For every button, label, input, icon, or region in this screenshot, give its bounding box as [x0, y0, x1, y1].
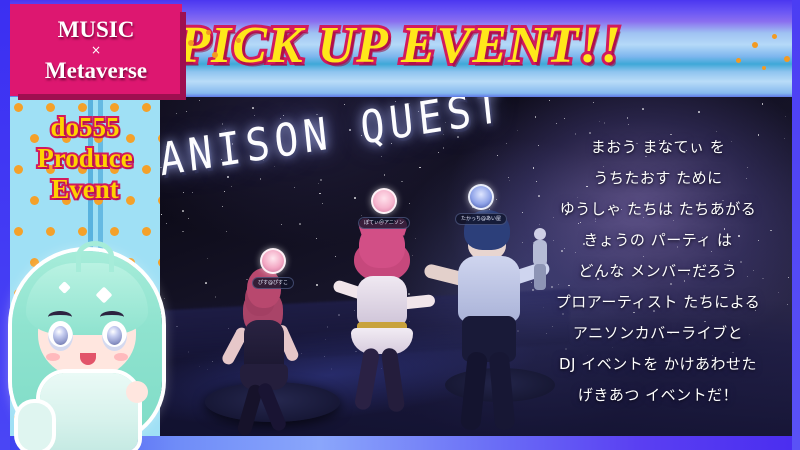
frame-right-edge — [792, 0, 800, 450]
star — [762, 103, 764, 105]
avatar-icon-pink — [260, 248, 286, 274]
banner-dot — [762, 66, 766, 70]
star — [785, 116, 786, 117]
star — [186, 111, 187, 112]
event-description: まおう まなてぃ をうちたおす ためにゆうしゃ たちは たちあがるきょうの パー… — [524, 132, 792, 411]
mascot-ahoge — [76, 241, 114, 272]
star — [322, 203, 323, 204]
star — [299, 223, 301, 225]
mascot-cheek-right — [114, 353, 128, 361]
star — [698, 111, 700, 113]
description-line: まおう まなてぃ を — [524, 132, 792, 163]
description-line: げきあつ イベントだ！ — [524, 380, 792, 411]
star — [188, 218, 189, 219]
avatar-icon-pink2 — [371, 188, 397, 214]
mascot-hand — [126, 381, 148, 403]
description-line: プロアーティスト たちによる — [524, 287, 792, 318]
star — [252, 107, 254, 109]
description-line: どんな メンバーだろう — [524, 256, 792, 287]
star — [508, 177, 509, 178]
star — [316, 238, 317, 239]
star — [226, 231, 227, 232]
star — [593, 102, 594, 103]
nameplate-label: ぴす@ぴすこ — [252, 277, 294, 289]
badge-line-music: MUSIC — [58, 17, 135, 42]
polka-dot — [142, 227, 151, 236]
star — [281, 224, 282, 225]
badge-line-cross: × — [91, 42, 101, 58]
produce-event-label: do555 Produce Event — [10, 112, 160, 205]
banner-dot — [212, 52, 218, 58]
event-banner-image: ANISON QUEST ぴす@ぴすこ ぽてぃ＠アニソン たかっち@あい屋 ま — [0, 0, 800, 450]
star — [316, 284, 318, 286]
mascot-hoodie — [40, 373, 138, 450]
polka-dot — [110, 103, 119, 112]
banner-dot — [236, 38, 241, 43]
polka-dot — [46, 227, 55, 236]
star — [564, 118, 565, 119]
avatar-center-idol — [335, 222, 435, 432]
polka-dot — [46, 103, 55, 112]
description-line: アニソンカバーライブと — [524, 318, 792, 349]
banner-dot — [736, 58, 741, 63]
star — [166, 223, 167, 224]
star — [199, 100, 200, 101]
star — [215, 296, 217, 298]
banner-dot — [206, 30, 211, 35]
description-line: うちたおす ために — [524, 163, 792, 194]
nameplate-right[interactable]: たかっち@あい屋 — [455, 184, 507, 225]
produce-line-do555: do555 — [10, 112, 160, 143]
avatar-left-pink — [225, 268, 305, 433]
star — [205, 282, 207, 284]
description-line: きょうの パーティ は — [524, 225, 792, 256]
star — [549, 100, 550, 101]
nameplate-left[interactable]: ぴす@ぴすこ — [252, 248, 294, 289]
avatar-icon-blue — [468, 184, 494, 210]
mascot-arm — [18, 403, 52, 450]
nameplate-label: ぽてぃ＠アニソン — [358, 217, 410, 229]
polka-dot — [110, 227, 119, 236]
produce-line-event: Event — [10, 174, 160, 205]
banner-dot — [188, 40, 194, 46]
star — [628, 124, 629, 125]
music-metaverse-badge: MUSIC × Metaverse — [12, 6, 180, 94]
polka-dot — [142, 103, 151, 112]
star — [556, 123, 557, 124]
mascot-cheek-left — [46, 353, 60, 361]
produce-line-produce: Produce — [10, 143, 160, 174]
polka-dot — [78, 227, 87, 236]
mascot-bangs — [26, 263, 148, 335]
star — [642, 108, 644, 110]
mascot-eye-right — [102, 321, 127, 351]
description-line: DJ イベントを かけあわせた — [524, 349, 792, 380]
description-line: ゆうしゃ たちは たちあがる — [524, 194, 792, 225]
star — [354, 197, 356, 199]
star — [604, 122, 605, 123]
star — [627, 117, 628, 118]
banner-dot — [784, 56, 790, 62]
polka-dot — [78, 103, 87, 112]
star — [161, 214, 162, 215]
chibi-mascot-avatar — [2, 245, 172, 450]
polka-dot — [14, 103, 23, 112]
nameplate-label: たかっち@あい屋 — [455, 213, 507, 225]
banner-dot — [752, 42, 758, 48]
mascot-eye-left — [48, 321, 73, 351]
star — [599, 121, 600, 122]
banner-dot — [772, 34, 777, 39]
polka-dot — [14, 227, 23, 236]
star — [509, 180, 510, 181]
star — [207, 258, 208, 259]
nameplate-center[interactable]: ぽてぃ＠アニソン — [358, 188, 410, 229]
star — [182, 231, 183, 232]
star — [401, 181, 403, 183]
badge-line-metaverse: Metaverse — [45, 58, 147, 83]
